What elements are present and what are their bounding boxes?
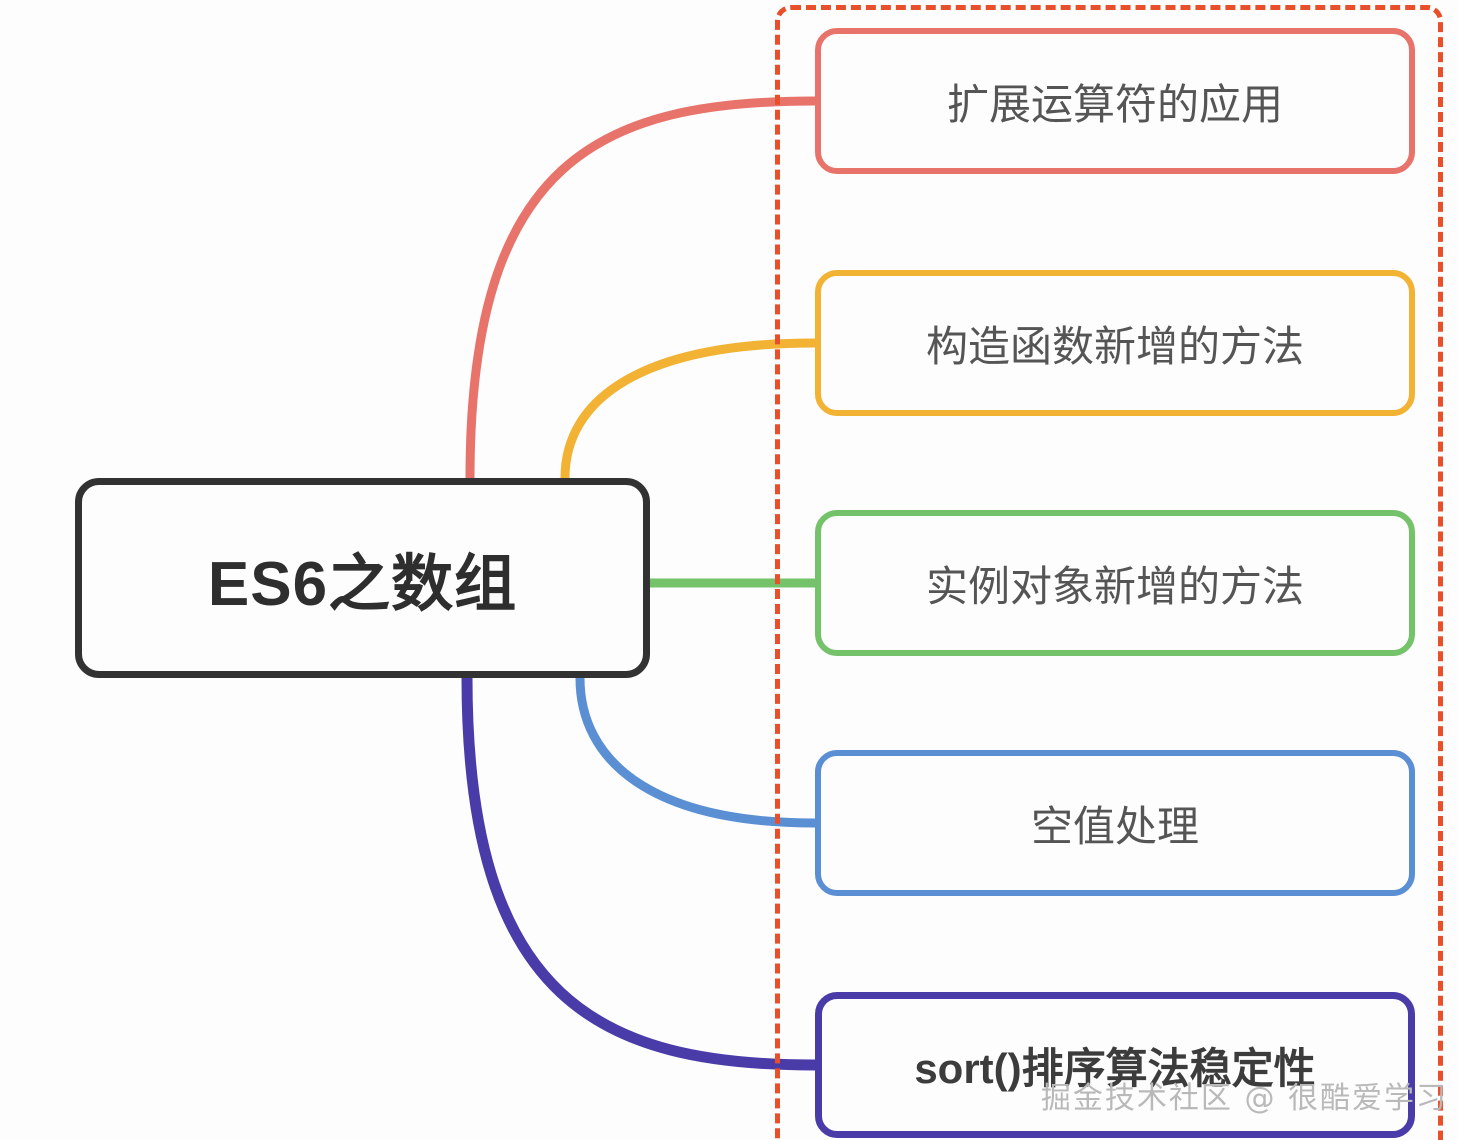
branch-node-label-2: 实例对象新增的方法 (926, 553, 1304, 614)
branch-node-label-3: 空值处理 (1031, 793, 1199, 854)
connector-to-branch-4 (467, 678, 815, 1065)
mindmap-branch-node-1[interactable]: 构造函数新增的方法 (815, 270, 1415, 416)
connector-to-branch-1 (565, 343, 815, 478)
connector-to-branch-3 (580, 678, 815, 823)
mindmap-branch-node-0[interactable]: 扩展运算符的应用 (815, 28, 1415, 174)
root-node-label: ES6之数组 (208, 533, 517, 623)
mindmap-root-node[interactable]: ES6之数组 (75, 478, 650, 678)
branch-node-label-1: 构造函数新增的方法 (926, 313, 1304, 374)
mindmap-canvas: ES6之数组 扩展运算符的应用 构造函数新增的方法 实例对象新增的方法 空值处理… (0, 0, 1458, 1140)
branch-node-label-0: 扩展运算符的应用 (947, 71, 1283, 132)
connector-to-branch-0 (470, 101, 815, 478)
watermark-text: 掘金技术社区 @ 很酷爱学习 (1041, 1073, 1448, 1117)
mindmap-branch-node-2[interactable]: 实例对象新增的方法 (815, 510, 1415, 656)
mindmap-branch-node-3[interactable]: 空值处理 (815, 750, 1415, 896)
